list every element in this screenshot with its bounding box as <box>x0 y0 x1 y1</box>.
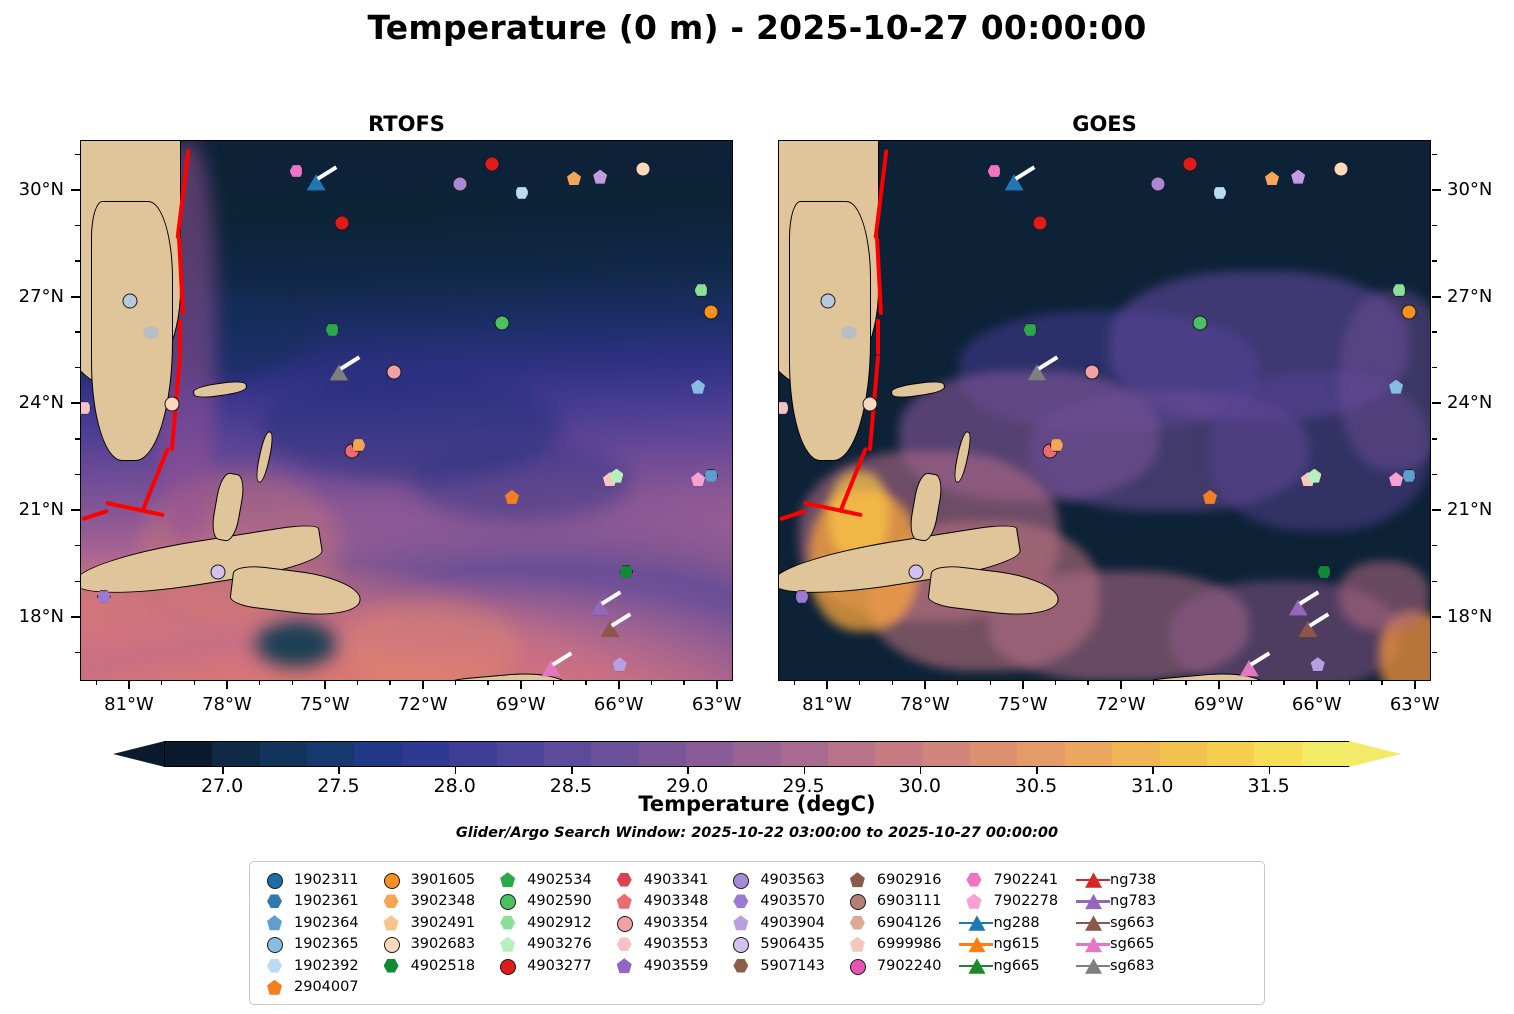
legend-hex-icon <box>733 958 748 973</box>
legend-hex-icon <box>267 894 282 909</box>
colorbar-segment <box>1254 742 1301 766</box>
y-tick-label: 18°N <box>19 606 64 627</box>
legend-label: 6902916 <box>877 872 942 888</box>
argo-marker-4903341[interactable] <box>335 215 350 230</box>
x-minor-tick <box>194 681 195 685</box>
colorbar-tick <box>1269 767 1271 774</box>
legend-columns: 1902311190236119023641902365190239229040… <box>260 869 1254 998</box>
argo-marker-5906435[interactable] <box>211 564 226 579</box>
y-minor-tick <box>1432 403 1437 404</box>
x-minor-tick <box>455 681 456 685</box>
legend-item-3902348[interactable]: 3902348 <box>377 891 476 913</box>
x-minor-tick <box>892 681 893 685</box>
x-minor-tick <box>1120 681 1121 685</box>
x-minor-tick <box>1218 681 1219 685</box>
colorbar-segment <box>923 742 970 766</box>
x-minor-tick <box>1283 681 1284 685</box>
legend-label: 6904126 <box>877 915 942 931</box>
legend-item-7902241[interactable]: 7902241 <box>959 869 1058 891</box>
legend-pent-icon <box>267 980 282 995</box>
x-minor-tick <box>259 681 260 685</box>
legend-circle-icon <box>500 894 516 910</box>
gulfstream-front <box>178 319 182 355</box>
y-minor-tick <box>75 581 80 582</box>
legend-column: 69029166903111690412669999867902240 <box>843 869 942 998</box>
x-minor-tick <box>826 681 827 685</box>
legend-label: 3901605 <box>411 872 476 888</box>
legend-circle-icon <box>850 959 866 975</box>
legend-item-4903354[interactable]: 4903354 <box>610 912 709 934</box>
legend-item-1902365[interactable]: 1902365 <box>260 934 359 956</box>
y-minor-tick <box>75 296 80 297</box>
x-minor-tick <box>990 681 991 685</box>
y-minor-tick <box>75 474 80 475</box>
x-tick-label: 81°W <box>104 694 154 715</box>
legend-label: 4903277 <box>527 958 592 974</box>
legend-pent-icon <box>617 894 632 909</box>
legend-symbol-hex-icon <box>610 870 644 890</box>
legend-symbol-pent-icon <box>959 891 993 911</box>
legend-hex-icon <box>850 915 865 930</box>
lake-okeechobee <box>143 326 159 339</box>
legend-hex-icon <box>500 915 515 930</box>
x-minor-tick <box>1381 681 1382 685</box>
legend-symbol-pent-icon <box>260 977 294 997</box>
legend-item-4903277[interactable]: 4903277 <box>493 955 592 977</box>
y-minor-tick <box>1432 509 1437 510</box>
x-minor-tick <box>128 681 129 685</box>
legend-label: 4903354 <box>644 915 709 931</box>
legend-item-4903276[interactable]: 4903276 <box>493 934 592 956</box>
legend-hex-icon <box>267 958 282 973</box>
y-tick-label: 27°N <box>19 286 64 307</box>
y-minor-tick <box>1432 367 1437 368</box>
legend-label: 1902311 <box>294 872 359 888</box>
legend-item-4903559[interactable]: 4903559 <box>610 955 709 977</box>
legend-symbol-pent-icon <box>260 913 294 933</box>
legend-label: 4902534 <box>527 872 592 888</box>
legend-item-3901605[interactable]: 3901605 <box>377 869 476 891</box>
legend-item-2904007[interactable]: 2904007 <box>260 977 359 999</box>
sst-patch <box>1339 561 1429 631</box>
argo-marker-1902365[interactable] <box>820 294 835 309</box>
colorbar: 27.027.528.028.529.029.530.030.531.031.5 <box>113 741 1401 767</box>
legend-pent-icon <box>966 894 981 909</box>
legend-label: ng783 <box>1110 893 1156 909</box>
legend-label: sg683 <box>1110 958 1154 974</box>
x-minor-tick <box>683 681 684 685</box>
legend-circle-icon <box>850 894 866 910</box>
x-minor-tick <box>1414 681 1415 685</box>
colorbar-segment <box>686 742 733 766</box>
legend-pent-icon <box>384 915 399 930</box>
legend-pent-icon <box>850 937 865 952</box>
legend-column: 49033414903348490335449035534903559 <box>610 869 709 998</box>
legend-label: sg665 <box>1110 936 1154 952</box>
legend-pent-icon <box>500 872 515 887</box>
legend-symbol-tri-icon <box>1076 891 1110 911</box>
x-tick-label: 69°W <box>496 694 546 715</box>
argo-marker-4903563[interactable] <box>452 176 467 191</box>
y-tick-label: 18°N <box>1447 606 1492 627</box>
y-minor-tick <box>75 652 80 653</box>
argo-marker-3902683b[interactable] <box>165 397 180 412</box>
legend-label: 4903570 <box>760 893 825 909</box>
argo-marker-4903563[interactable] <box>1150 176 1165 191</box>
cold-eddy <box>256 621 336 667</box>
legend-item-4902534[interactable]: 4902534 <box>493 869 592 891</box>
legend-item-6902916[interactable]: 6902916 <box>843 869 942 891</box>
y-minor-tick <box>75 225 80 226</box>
x-minor-tick <box>226 681 227 685</box>
legend-symbol-hex-icon <box>843 913 877 933</box>
x-minor-tick <box>1153 681 1154 685</box>
legend-item-4902518[interactable]: 4902518 <box>377 955 476 977</box>
colorbar-tick <box>455 767 457 774</box>
legend-symbol-circle-icon <box>377 934 411 954</box>
colorbar-segment <box>781 742 828 766</box>
colorbar-segment <box>544 742 591 766</box>
y-minor-tick <box>75 616 80 617</box>
legend-item-sg663[interactable]: sg663 <box>1076 912 1156 934</box>
x-minor-tick <box>1055 681 1056 685</box>
legend-symbol-circle-icon <box>843 891 877 911</box>
x-minor-tick <box>96 681 97 685</box>
x-minor-tick <box>957 681 958 685</box>
argo-marker-1902365[interactable] <box>122 294 137 309</box>
x-tick-label: 75°W <box>998 694 1048 715</box>
x-tick-label: 78°W <box>900 694 950 715</box>
legend-symbol-tri-icon <box>959 934 993 954</box>
legend-symbol-hex-icon <box>260 956 294 976</box>
x-tick-label: 81°W <box>802 694 852 715</box>
argo-marker-3902683b[interactable] <box>863 397 878 412</box>
legend-label: 1902361 <box>294 893 359 909</box>
colorbar-tick <box>1152 767 1154 774</box>
x-minor-tick <box>1185 681 1186 685</box>
legend-label: 5906435 <box>760 936 825 952</box>
x-minor-tick <box>1087 681 1088 685</box>
legend-label: 4902518 <box>411 958 476 974</box>
legend-item-4903341[interactable]: 4903341 <box>610 869 709 891</box>
x-minor-tick <box>324 681 325 685</box>
x-minor-tick <box>487 681 488 685</box>
y-minor-tick <box>75 509 80 510</box>
legend-item-1902361[interactable]: 1902361 <box>260 891 359 913</box>
y-tick-label: 21°N <box>1447 499 1492 520</box>
y-minor-tick <box>1432 545 1437 546</box>
panel-title-rtofs: RTOFS <box>80 112 733 136</box>
legend-symbol-hex-icon <box>610 934 644 954</box>
y-minor-tick <box>75 367 80 368</box>
legend-item-5906435[interactable]: 5906435 <box>726 934 825 956</box>
legend-item-4902590[interactable]: 4902590 <box>493 891 592 913</box>
argo-marker-4902590[interactable] <box>495 315 510 330</box>
y-minor-tick <box>1432 331 1437 332</box>
colorbar-segment <box>875 742 922 766</box>
colorbar-segment <box>402 742 449 766</box>
colorbar-tick <box>1036 767 1038 774</box>
legend-hex-icon <box>966 872 981 887</box>
legend-label: sg663 <box>1110 915 1154 931</box>
legend-item-1902311[interactable]: 1902311 <box>260 869 359 891</box>
legend-label: 3902491 <box>411 915 476 931</box>
legend-symbol-tri-icon <box>959 956 993 976</box>
legend-symbol-tri-icon <box>1076 934 1110 954</box>
legend-symbol-pent-icon <box>610 956 644 976</box>
y-minor-tick <box>1432 154 1437 155</box>
y-minor-tick <box>1432 225 1437 226</box>
search-window-text: Glider/Argo Search Window: 2025-10-22 03… <box>0 825 1514 841</box>
legend-item-4902912[interactable]: 4902912 <box>493 912 592 934</box>
argo-marker-4902590[interactable] <box>1193 315 1208 330</box>
legend-label: 3902348 <box>411 893 476 909</box>
argo-marker-5906435[interactable] <box>909 564 924 579</box>
legend-hex-icon <box>384 894 399 909</box>
legend-symbol-pent-icon <box>843 934 877 954</box>
colorbar-segment <box>449 742 496 766</box>
x-minor-tick <box>585 681 586 685</box>
colorbar-segment <box>354 742 401 766</box>
legend-circle-icon <box>733 873 749 889</box>
legend-hex-icon <box>384 958 399 973</box>
colorbar-body <box>164 741 1350 767</box>
legend-item-6904126[interactable]: 6904126 <box>843 912 942 934</box>
legend-item-1902364[interactable]: 1902364 <box>260 912 359 934</box>
y-minor-tick <box>1432 296 1437 297</box>
legend-symbol-hex-icon <box>726 956 760 976</box>
y-minor-tick <box>75 403 80 404</box>
legend-symbol-circle-icon <box>843 956 877 976</box>
gulfstream-front <box>876 319 880 355</box>
y-minor-tick <box>75 545 80 546</box>
x-minor-tick <box>651 681 652 685</box>
colorbar-segment <box>828 742 875 766</box>
rtofs-field <box>81 141 732 680</box>
argo-marker-4903341[interactable] <box>1033 215 1048 230</box>
warm-filament <box>341 601 521 681</box>
eddy <box>411 441 631 521</box>
argo-marker-4903354[interactable] <box>1085 365 1100 380</box>
legend-symbol-circle-icon <box>493 891 527 911</box>
colorbar-segment <box>497 742 544 766</box>
legend-symbol-circle-icon <box>493 956 527 976</box>
x-tick-label: 78°W <box>202 694 252 715</box>
colorbar-extend-high <box>1349 741 1401 767</box>
colorbar-segment <box>1302 742 1349 766</box>
legend-item-4903553[interactable]: 4903553 <box>610 934 709 956</box>
legend-label: 4903348 <box>644 893 709 909</box>
y-minor-tick <box>1432 438 1437 439</box>
y-tick-label: 24°N <box>19 392 64 413</box>
legend-label: 1902365 <box>294 936 359 952</box>
goes-field <box>779 141 1430 680</box>
legend-column: 49025344902590490291249032764903277 <box>493 869 592 998</box>
legend-label: 4903563 <box>760 872 825 888</box>
map-panel-rtofs[interactable] <box>80 140 733 681</box>
argo-marker-4903354[interactable] <box>387 365 402 380</box>
y-minor-tick <box>1432 616 1437 617</box>
legend-hex-icon <box>617 937 632 952</box>
legend-symbol-circle-icon <box>610 913 644 933</box>
legend-item-4903570[interactable]: 4903570 <box>726 891 825 913</box>
colorbar-segment <box>1017 742 1064 766</box>
colorbar-tick <box>920 767 922 774</box>
legend-item-sg683[interactable]: sg683 <box>1076 955 1156 977</box>
x-tick-label: 66°W <box>594 694 644 715</box>
legend-label: 4903276 <box>527 936 592 952</box>
legend-label: 7902240 <box>877 958 942 974</box>
legend-item-4903904[interactable]: 4903904 <box>726 912 825 934</box>
legend-item-4903563[interactable]: 4903563 <box>726 869 825 891</box>
x-minor-tick <box>357 681 358 685</box>
y-tick-label: 30°N <box>19 179 64 200</box>
x-minor-tick <box>1251 681 1252 685</box>
y-tick-label: 27°N <box>1447 286 1492 307</box>
legend-symbol-tri-icon <box>1076 956 1110 976</box>
legend-circle-icon <box>384 873 400 889</box>
legend-item-3902491[interactable]: 3902491 <box>377 912 476 934</box>
legend-symbol-hex-icon <box>726 891 760 911</box>
legend-item-ng665[interactable]: ng665 <box>959 955 1058 977</box>
legend-symbol-hex-icon <box>377 891 411 911</box>
y-minor-tick <box>75 260 80 261</box>
legend-label: 6999986 <box>877 936 942 952</box>
x-tick-label: 75°W <box>300 694 350 715</box>
legend-label: 6903111 <box>877 893 942 909</box>
legend-label: ng615 <box>993 936 1039 952</box>
legend-column: 49035634903570490390459064355907143 <box>726 869 825 998</box>
legend-item-7902240[interactable]: 7902240 <box>843 955 942 977</box>
legend-column: ng738ng783sg663sg665sg683 <box>1076 869 1156 998</box>
legend-symbol-circle-icon <box>726 870 760 890</box>
legend-hex-icon <box>733 894 748 909</box>
legend-symbol-hex-icon <box>493 913 527 933</box>
panel-title-goes: GOES <box>778 112 1431 136</box>
legend-column: 39016053902348390249139026834902518 <box>377 869 476 998</box>
legend-symbol-circle-icon <box>260 934 294 954</box>
x-tick-label: 69°W <box>1194 694 1244 715</box>
legend-item-5907143[interactable]: 5907143 <box>726 955 825 977</box>
legend-label: 4903904 <box>760 915 825 931</box>
x-tick-label: 63°W <box>692 694 742 715</box>
colorbar-segment <box>639 742 686 766</box>
legend-label: 2904007 <box>294 979 359 995</box>
argo-marker-4903277[interactable] <box>485 157 500 172</box>
legend-symbol-hex-icon <box>377 956 411 976</box>
legend-circle-icon <box>267 937 283 953</box>
figure-title: Temperature (0 m) - 2025-10-27 00:00:00 <box>0 8 1514 47</box>
legend-item-ng783[interactable]: ng783 <box>1076 891 1156 913</box>
y-tick-label: 24°N <box>1447 392 1492 413</box>
argo-marker-3902683[interactable] <box>635 162 650 177</box>
legend-item-ng738[interactable]: ng738 <box>1076 869 1156 891</box>
x-minor-tick <box>924 681 925 685</box>
legend-item-ng615[interactable]: ng615 <box>959 934 1058 956</box>
colorbar-segment <box>1207 742 1254 766</box>
x-minor-tick <box>553 681 554 685</box>
colorbar-segment <box>591 742 638 766</box>
legend-hex-icon <box>617 872 632 887</box>
y-minor-tick <box>1432 581 1437 582</box>
land-florida-peninsula <box>91 201 173 461</box>
colorbar-segment <box>307 742 354 766</box>
y-minor-tick <box>1432 474 1437 475</box>
legend-item-4903348[interactable]: 4903348 <box>610 891 709 913</box>
legend-item-1902392[interactable]: 1902392 <box>260 955 359 977</box>
x-minor-tick <box>1349 681 1350 685</box>
y-minor-tick <box>1432 260 1437 261</box>
x-tick-label: 72°W <box>1096 694 1146 715</box>
legend-symbol-pent-icon <box>493 870 527 890</box>
legend-label: 4903341 <box>644 872 709 888</box>
legend-symbol-pent-icon <box>843 870 877 890</box>
y-minor-tick <box>75 189 80 190</box>
argo-marker-4903277[interactable] <box>1183 157 1198 172</box>
x-minor-tick <box>161 681 162 685</box>
legend-label: 4902912 <box>527 915 592 931</box>
colorbar-segment <box>165 742 212 766</box>
legend-pent-icon <box>733 915 748 930</box>
legend-item-sg665[interactable]: sg665 <box>1076 934 1156 956</box>
legend-label: 4903559 <box>644 958 709 974</box>
x-minor-tick <box>1022 681 1023 685</box>
legend-symbol-circle-icon <box>726 934 760 954</box>
x-tick-label: 72°W <box>398 694 448 715</box>
map-panel-goes[interactable] <box>778 140 1431 681</box>
colorbar-tick <box>222 767 224 774</box>
legend-item-3902683[interactable]: 3902683 <box>377 934 476 956</box>
y-minor-tick <box>1432 652 1437 653</box>
sst-patch <box>1339 291 1431 471</box>
x-minor-tick <box>618 681 619 685</box>
legend-item-6999986[interactable]: 6999986 <box>843 934 942 956</box>
legend-label: ng665 <box>993 958 1039 974</box>
land-florida-peninsula <box>789 201 871 461</box>
x-minor-tick <box>389 681 390 685</box>
legend-item-7902278[interactable]: 7902278 <box>959 891 1058 913</box>
legend-symbol-tri-icon <box>1076 913 1110 933</box>
y-minor-tick <box>75 154 80 155</box>
legend-label: ng738 <box>1110 872 1156 888</box>
legend-circle-icon <box>500 959 516 975</box>
y-tick-label: 21°N <box>19 499 64 520</box>
argo-marker-3901605[interactable] <box>704 304 719 319</box>
colorbar-segment <box>1160 742 1207 766</box>
argo-marker-3901605[interactable] <box>1402 304 1417 319</box>
legend-circle-icon <box>267 873 283 889</box>
colorbar-tick <box>687 767 689 774</box>
legend-label: 1902364 <box>294 915 359 931</box>
colorbar-segment <box>733 742 780 766</box>
legend-symbol-hex-icon <box>260 891 294 911</box>
legend-symbol-pent-icon <box>377 913 411 933</box>
legend-symbol-pent-icon <box>610 891 644 911</box>
x-minor-tick <box>520 681 521 685</box>
legend-item-6903111[interactable]: 6903111 <box>843 891 942 913</box>
legend-item-ng288[interactable]: ng288 <box>959 912 1058 934</box>
legend-pent-icon <box>617 958 632 973</box>
x-minor-tick <box>859 681 860 685</box>
legend-symbol-pent-icon <box>493 934 527 954</box>
argo-marker-3902683[interactable] <box>1333 162 1348 177</box>
colorbar-segment <box>1112 742 1159 766</box>
x-tick-label: 66°W <box>1292 694 1342 715</box>
legend-column: 1902311190236119023641902365190239229040… <box>260 869 359 998</box>
platform-legend: 1902311190236119023641902365190239229040… <box>249 861 1265 1005</box>
legend-symbol-circle-icon <box>260 870 294 890</box>
legend-circle-icon <box>617 916 633 932</box>
